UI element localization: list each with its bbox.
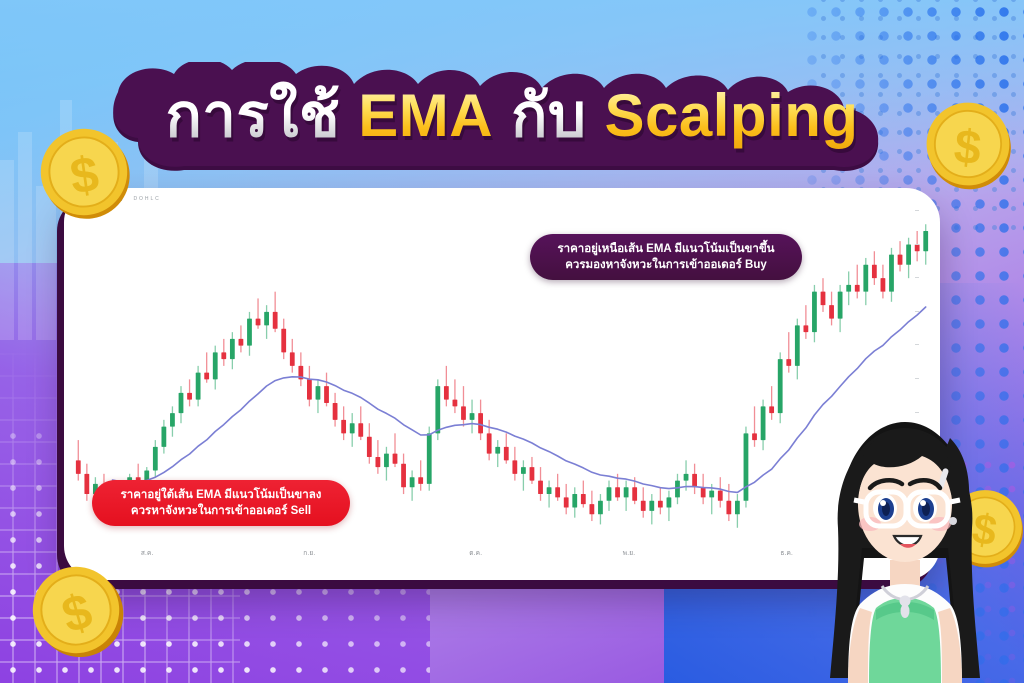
y-tick-mark bbox=[915, 277, 919, 278]
x-tick-label: ส.ค. bbox=[141, 548, 154, 558]
callout-buy-line1: ราคาอยู่เหนือเส้น EMA มีแนวโน้มเป็นขาขึ้… bbox=[557, 242, 774, 257]
callout-buy-line2: ควรมองหาจังหวะในการเข้าออเดอร์ Buy bbox=[565, 258, 767, 273]
title-segment-3: กับ bbox=[511, 68, 586, 163]
x-tick-label: ต.ค. bbox=[469, 548, 482, 558]
poster-canvas: การใช้ EMA กับ Scalping Dally D O H L C … bbox=[0, 0, 1024, 683]
title-segment-1: การใช้ bbox=[165, 68, 340, 163]
title-segment-4: Scalping bbox=[604, 81, 858, 150]
callout-sell-line2: ควรหาจังหวะในการเข้าออเดอร์ Sell bbox=[131, 504, 311, 519]
title-banner: การใช้ EMA กับ Scalping bbox=[88, 62, 936, 174]
y-tick-mark bbox=[915, 344, 919, 345]
callout-sell-line1: ราคาอยู่ใต้เส้น EMA มีแนวโน้มเป็นขาลง bbox=[121, 488, 322, 503]
character-illustration bbox=[790, 408, 1020, 683]
callout-sell: ราคาอยู่ใต้เส้น EMA มีแนวโน้มเป็นขาลง คว… bbox=[92, 480, 350, 526]
x-tick-label: ก.ย. bbox=[303, 548, 315, 558]
x-tick-label: พ.ย. bbox=[623, 548, 636, 558]
svg-text:$: $ bbox=[952, 120, 984, 175]
dollar-coin-icon: $ bbox=[917, 93, 1018, 194]
y-tick-mark bbox=[915, 210, 919, 211]
y-tick-mark bbox=[915, 378, 919, 379]
y-tick-mark bbox=[915, 311, 919, 312]
dollar-coin-icon: $ bbox=[30, 118, 138, 226]
title-segment-2: EMA bbox=[358, 81, 493, 150]
y-tick-mark bbox=[915, 244, 919, 245]
callout-buy: ราคาอยู่เหนือเส้น EMA มีแนวโน้มเป็นขาขึ้… bbox=[530, 234, 802, 280]
chart-header-right: D O H L C bbox=[133, 196, 159, 202]
page-title: การใช้ EMA กับ Scalping bbox=[88, 62, 936, 174]
